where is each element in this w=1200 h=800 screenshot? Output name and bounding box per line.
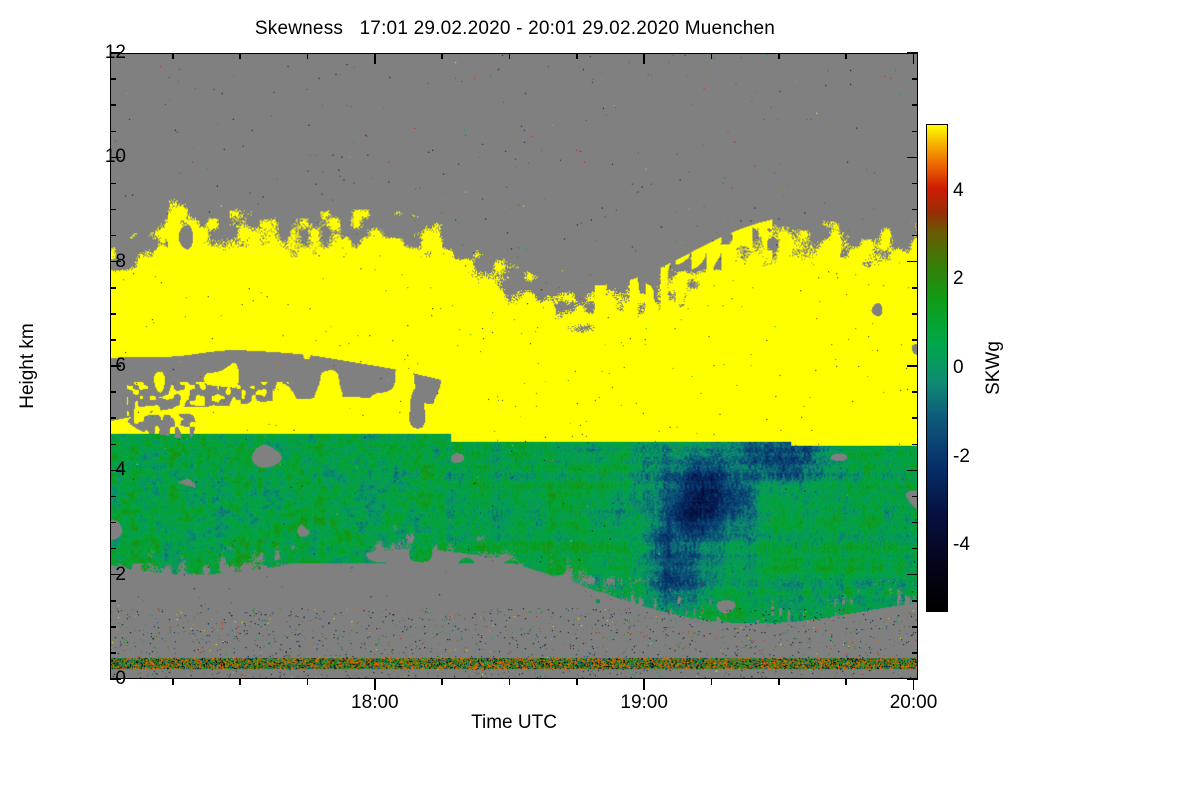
y-tick-minor-right <box>912 626 918 628</box>
y-tick-minor <box>110 391 116 393</box>
x-tick-minor-top <box>711 53 713 59</box>
y-tick-label: 6 <box>115 355 126 377</box>
plot-area[interactable] <box>110 53 918 679</box>
x-tick-minor <box>307 679 309 685</box>
y-tick-minor-right <box>912 548 918 550</box>
heatmap-canvas[interactable] <box>111 54 917 678</box>
x-tick-minor <box>509 679 511 685</box>
y-tick-minor-right <box>912 339 918 341</box>
x-tick-minor-top <box>509 53 511 59</box>
y-tick-minor <box>110 235 116 237</box>
y-tick-minor <box>110 104 116 106</box>
x-tick-major-top <box>913 53 915 64</box>
x-tick-minor-top <box>239 53 241 59</box>
y-axis-title: Height km <box>17 323 39 409</box>
y-tick-minor-right <box>912 522 918 524</box>
x-tick-minor <box>172 679 174 685</box>
x-tick-minor-top <box>576 53 578 59</box>
y-tick-minor-right <box>912 496 918 498</box>
y-tick-label: 0 <box>115 668 126 690</box>
y-tick-minor <box>110 131 116 133</box>
x-tick-label: 18:00 <box>351 692 399 714</box>
x-tick-minor-top <box>778 53 780 59</box>
y-tick-minor-right <box>912 287 918 289</box>
y-tick-minor <box>110 444 116 446</box>
x-tick-major <box>913 679 915 690</box>
x-tick-minor-top <box>172 53 174 59</box>
y-tick-minor-right <box>912 235 918 237</box>
y-tick-minor-right <box>912 391 918 393</box>
colorbar-tick-label: -2 <box>953 446 970 468</box>
y-tick-major-right <box>907 261 918 263</box>
x-tick-minor-top <box>845 53 847 59</box>
colorbar-title: SKWg <box>983 341 1005 395</box>
y-tick-minor <box>110 287 116 289</box>
y-tick-major-right <box>907 157 918 159</box>
colorbar-tick-label: 4 <box>953 180 964 202</box>
y-tick-minor <box>110 78 116 80</box>
y-tick-minor <box>110 183 116 185</box>
x-tick-major-top <box>374 53 376 64</box>
y-tick-minor <box>110 626 116 628</box>
x-tick-minor <box>441 679 443 685</box>
y-tick-minor <box>110 652 116 654</box>
y-tick-minor <box>110 339 116 341</box>
y-tick-minor <box>110 209 116 211</box>
y-tick-major-right <box>907 574 918 576</box>
y-tick-minor <box>110 522 116 524</box>
x-tick-minor-top <box>307 53 309 59</box>
y-tick-minor <box>110 600 116 602</box>
y-tick-minor-right <box>912 444 918 446</box>
y-tick-label: 4 <box>115 459 126 481</box>
skewness-time-height-figure: Skewness 17:01 29.02.2020 - 20:01 29.02.… <box>0 0 1200 800</box>
colorbar-tick-label: 0 <box>953 357 964 379</box>
y-tick-minor-right <box>912 652 918 654</box>
y-tick-minor <box>110 417 116 419</box>
y-tick-minor-right <box>912 209 918 211</box>
x-tick-minor <box>239 679 241 685</box>
y-tick-label: 12 <box>105 42 126 64</box>
colorbar-tick-label: 2 <box>953 268 964 290</box>
colorbar-tick-label: -4 <box>953 534 970 556</box>
y-tick-minor-right <box>912 131 918 133</box>
colorbar-gradient <box>927 125 947 611</box>
x-axis-title: Time UTC <box>471 712 557 734</box>
x-tick-label: 20:00 <box>890 692 938 714</box>
x-tick-minor-top <box>441 53 443 59</box>
x-tick-major-top <box>643 53 645 64</box>
y-tick-minor-right <box>912 313 918 315</box>
page-title: Skewness 17:01 29.02.2020 - 20:01 29.02.… <box>0 18 1030 40</box>
y-tick-minor <box>110 548 116 550</box>
colorbar[interactable] <box>926 124 948 612</box>
x-tick-label: 19:00 <box>620 692 668 714</box>
x-tick-minor <box>711 679 713 685</box>
y-tick-major-right <box>907 470 918 472</box>
y-tick-minor-right <box>912 78 918 80</box>
y-tick-minor <box>110 496 116 498</box>
x-tick-major <box>374 679 376 690</box>
y-tick-label: 2 <box>115 564 126 586</box>
x-tick-minor <box>576 679 578 685</box>
y-tick-label: 8 <box>115 251 126 273</box>
y-tick-minor-right <box>912 600 918 602</box>
y-tick-major-right <box>907 365 918 367</box>
x-tick-major <box>643 679 645 690</box>
y-tick-minor-right <box>912 183 918 185</box>
x-tick-minor <box>845 679 847 685</box>
y-tick-minor-right <box>912 417 918 419</box>
y-tick-label: 10 <box>105 146 126 168</box>
y-tick-minor <box>110 313 116 315</box>
x-tick-minor <box>778 679 780 685</box>
y-tick-minor-right <box>912 104 918 106</box>
